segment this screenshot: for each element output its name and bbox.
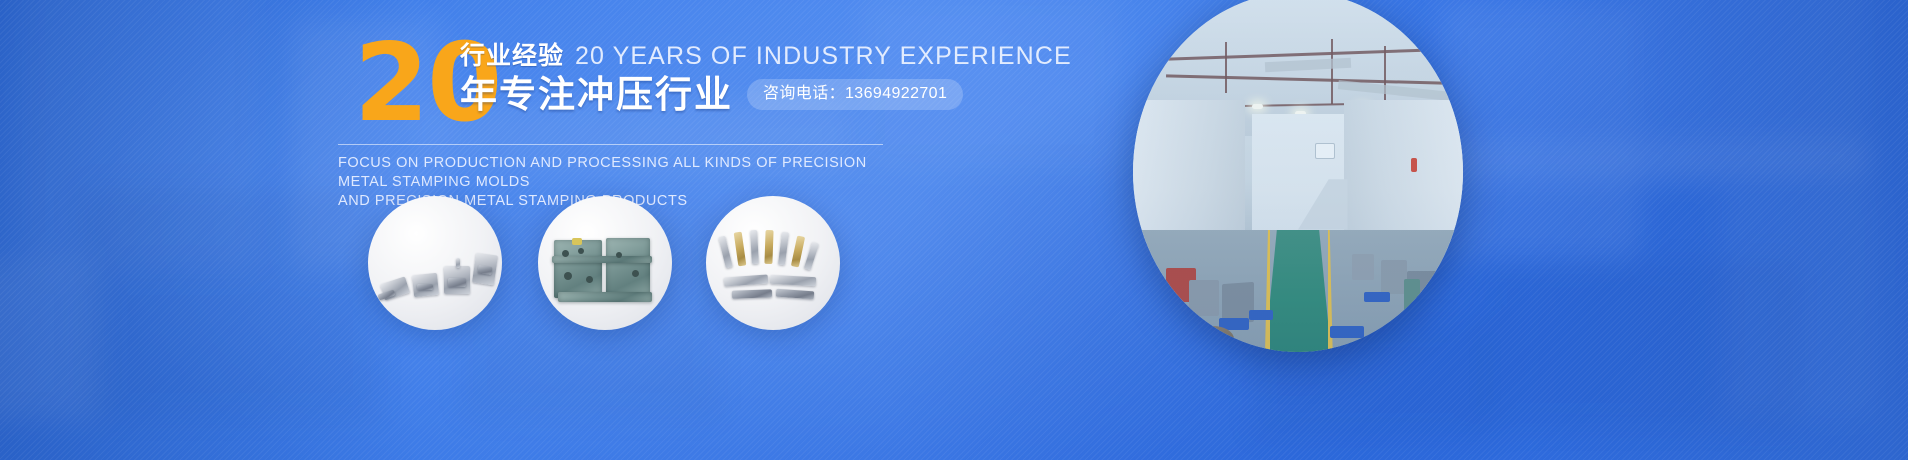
product-circle-mold (538, 196, 672, 330)
photo-blue-tint (1133, 0, 1463, 352)
mold-hole-6 (632, 270, 639, 277)
headline-block: 20 行业经验 20 YEARS OF INDUSTRY EXPERIENCE … (336, 38, 956, 211)
product-circle-terminals (706, 196, 840, 330)
mold-yellow-tag (572, 238, 582, 245)
terminal-pin-4 (764, 230, 773, 264)
terminal-strip-3 (732, 289, 772, 298)
telephone-badge[interactable]: 咨询电话：13694922701 (747, 79, 963, 110)
headline-cn-main: 年专注冲压行业 (460, 73, 733, 116)
mold-base-plate (558, 292, 652, 302)
connector-part-3-slot (448, 278, 466, 287)
mold-hole-5 (616, 252, 622, 258)
mold-hole-4 (586, 276, 593, 283)
mold-block-right (606, 238, 650, 298)
mold-hole-1 (562, 250, 569, 257)
headline-en-small: 20 YEARS OF INDUSTRY EXPERIENCE (575, 42, 1072, 70)
headline-cn-small: 行业经验 (460, 42, 564, 70)
connector-part-3-pin (456, 258, 460, 268)
mold-hole-3 (564, 272, 572, 280)
mold-hole-2 (578, 248, 584, 254)
factory-photo-circle (1133, 0, 1463, 352)
mold-rail (552, 256, 652, 263)
promo-banner: 20 行业经验 20 YEARS OF INDUSTRY EXPERIENCE … (0, 0, 1908, 460)
connector-part-2-slot (417, 284, 433, 290)
subtitle-line-1: FOCUS ON PRODUCTION AND PROCESSING ALL K… (338, 154, 898, 192)
product-circle-connectors (368, 196, 502, 330)
